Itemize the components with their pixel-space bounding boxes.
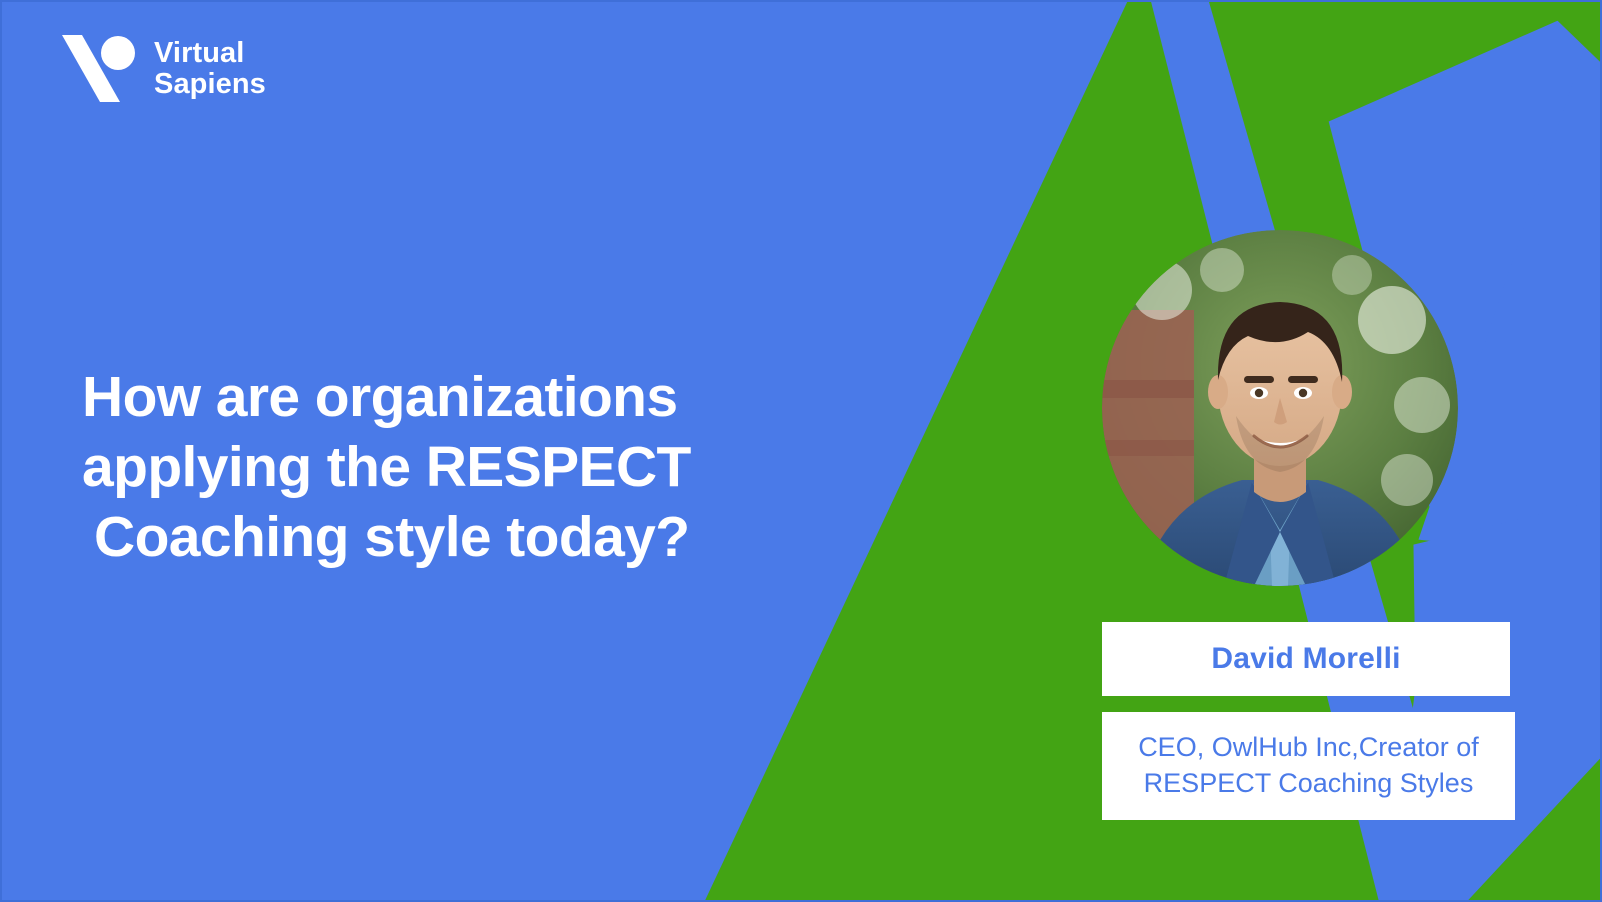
- speaker-name: David Morelli: [1211, 642, 1400, 676]
- headline-line-1: How are organizations: [82, 362, 842, 432]
- speaker-role: CEO, OwlHub Inc,Creator of RESPECT Coach…: [1108, 730, 1509, 802]
- speaker-role-card: CEO, OwlHub Inc,Creator of RESPECT Coach…: [1102, 712, 1515, 820]
- brand-logo[interactable]: Virtual Sapiens: [58, 32, 266, 106]
- brand-logo-wordmark: Virtual Sapiens: [154, 38, 266, 99]
- headline-line-2: applying the RESPECT: [82, 432, 842, 502]
- headline: How are organizations applying the RESPE…: [82, 362, 842, 572]
- logo-word-line1: Virtual: [154, 38, 266, 69]
- virtual-sapiens-v-mark-icon: [58, 32, 138, 106]
- headline-line-3: Coaching style today?: [82, 502, 842, 572]
- speaker-photo: [1102, 230, 1458, 586]
- logo-word-line2: Sapiens: [154, 69, 266, 100]
- speaker-name-card: David Morelli: [1102, 622, 1510, 696]
- promo-slide: Virtual Sapiens How are organizations ap…: [0, 0, 1602, 902]
